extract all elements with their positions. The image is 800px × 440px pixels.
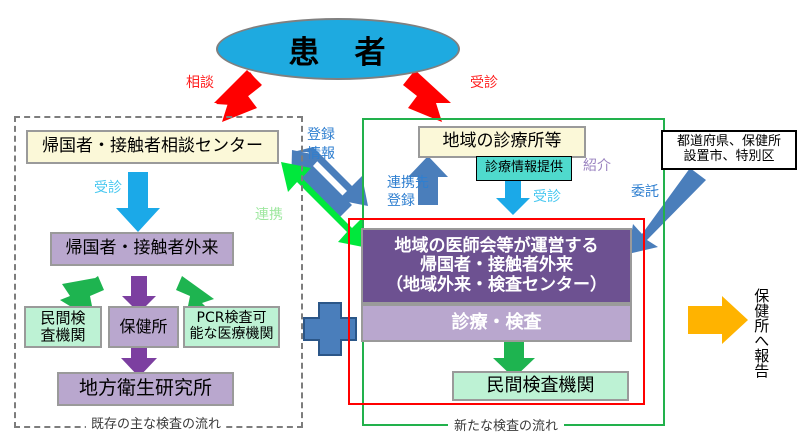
medical-info-box: 診療情報提供 (476, 156, 572, 181)
returnee-outpatient-box: 帰国者・接触者外来 (50, 232, 234, 266)
label-cooperation: 連携 (255, 208, 283, 223)
label-registration-info-line1: 登録 (307, 128, 335, 143)
label-consult-red: 相談 (186, 76, 214, 91)
pcr-facility-box: PCR検査可 能な医療機関 (183, 306, 280, 348)
private-lab-left-line1: 民間検 (40, 310, 85, 327)
arrow-visit-red (403, 70, 451, 122)
report-arrow-label: 保健所へ報告 (752, 288, 769, 378)
health-center-box: 保健所 (108, 306, 179, 348)
label-commission: 委託 (631, 185, 659, 200)
local-institute-label: 地方衛生研究所 (79, 378, 212, 399)
arrow-consult-red (214, 70, 262, 122)
local-clinic-label: 地域の診療所等 (443, 132, 562, 151)
medical-info-label: 診療情報提供 (485, 161, 563, 176)
label-visit-cyan-right: 受診 (533, 190, 561, 205)
new-flow-caption: 新たな検査の流れ (448, 420, 564, 434)
authority-box: 都道府県、保健所 設置市、特別区 (661, 130, 797, 170)
regional-center-line3: （地域外来・検査センター） (386, 276, 607, 295)
regional-center-line1: 地域の医師会等が運営する (395, 237, 599, 256)
authority-line2: 設置市、特別区 (683, 150, 774, 165)
health-center-label: 保健所 (119, 318, 167, 336)
consult-center-label: 帰国者・接触者相談センター (42, 137, 263, 156)
diagram-canvas: 患 者 帰国者・接触者相談センター 帰国者・接触者外来 民間検 査機関 保健所 … (0, 0, 800, 440)
existing-flow-caption: 既存の主な検査の流れ (86, 418, 226, 432)
patient-node: 患 者 (216, 18, 460, 80)
pcr-facility-line1: PCR検査可 (197, 311, 267, 327)
label-coop-registration-line2: 登録 (387, 194, 415, 209)
label-visit-red: 受診 (470, 76, 498, 91)
label-referral: 紹介 (583, 159, 611, 174)
private-lab-right-label: 民間検査機関 (487, 376, 595, 396)
returnee-outpatient-label: 帰国者・接触者外来 (66, 239, 219, 258)
pcr-facility-line2: 能な医療機関 (190, 327, 274, 343)
arrow-report-orange (688, 296, 748, 344)
private-lab-box-left: 民間検 査機関 (24, 306, 102, 348)
regional-center-service-box: 診療・検査 (361, 304, 632, 342)
consult-center-box: 帰国者・接触者相談センター (26, 130, 279, 164)
regional-center-box: 地域の医師会等が運営する 帰国者・接触者外来 （地域外来・検査センター） (361, 228, 632, 304)
private-lab-left-line2: 査機関 (40, 327, 85, 344)
local-institute-box: 地方衛生研究所 (57, 372, 234, 406)
label-coop-registration-line1: 連携先 (387, 176, 429, 191)
regional-center-line2: 帰国者・接触者外来 (420, 256, 573, 275)
local-clinic-box: 地域の診療所等 (418, 126, 586, 158)
patient-label: 患 者 (289, 27, 388, 72)
label-registration-info-line2: 情報 (307, 147, 335, 162)
label-consult-visit-cyan: 受診 (94, 181, 122, 196)
regional-center-service-label: 診療・検査 (452, 313, 542, 333)
private-lab-box-right: 民間検査機関 (452, 371, 629, 401)
authority-line1: 都道府県、保健所 (677, 135, 781, 150)
